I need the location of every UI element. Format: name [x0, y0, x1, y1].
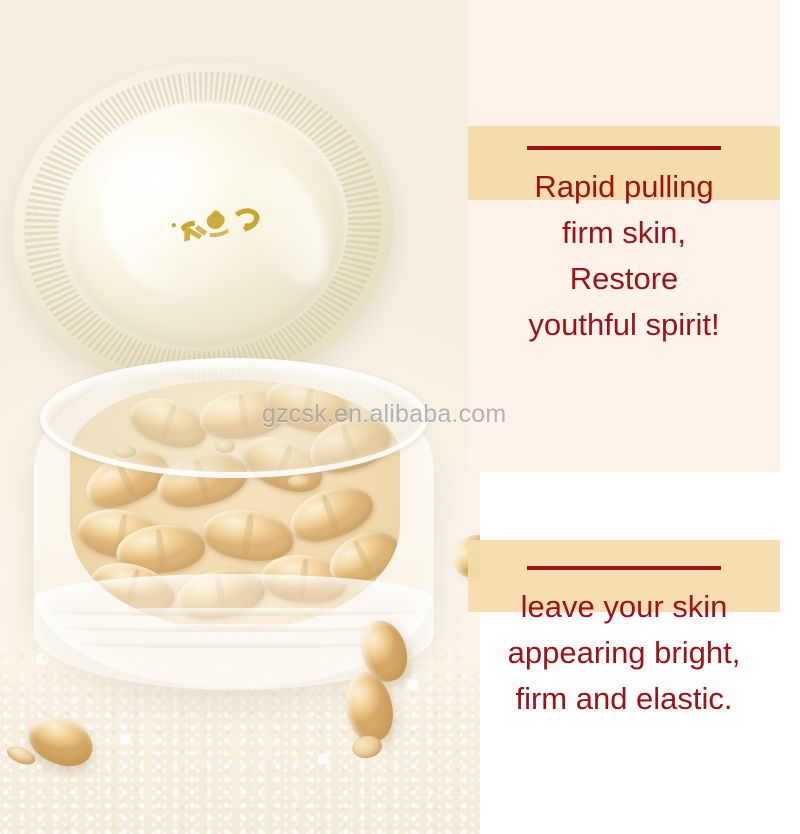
headline-divider-top: [527, 146, 721, 150]
capsule-tail: [288, 475, 311, 488]
headline-block-bottom: leave your skin appearing bright, firm a…: [468, 566, 780, 722]
headline-divider-bottom: [527, 566, 721, 570]
headline-text-bottom: leave your skin appearing bright, firm a…: [468, 584, 780, 722]
watermark-text: gzcsk.en.alibaba.com: [262, 400, 506, 429]
headline-block-top: Rapid pulling firm skin, Restore youthfu…: [468, 146, 780, 348]
jar-glass-band: [62, 624, 406, 632]
jar-glass-band: [78, 640, 390, 648]
headline-text-top: Rapid pulling firm skin, Restore youthfu…: [468, 164, 780, 348]
jar-glass-band: [50, 608, 418, 616]
product-banner: Rapid pulling firm skin, Restore youthfu…: [0, 0, 800, 834]
